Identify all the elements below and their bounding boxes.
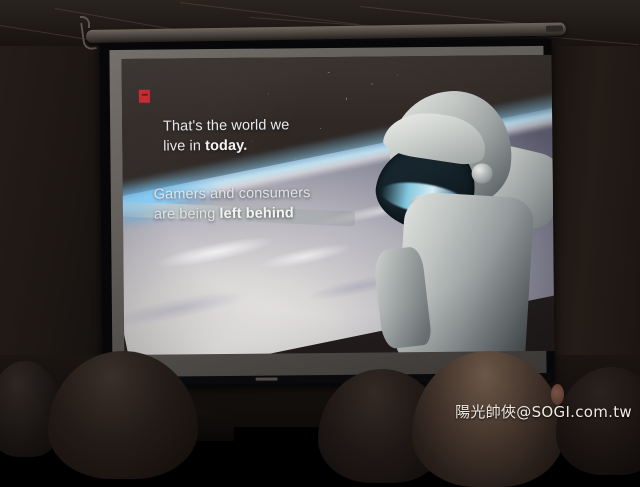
screen-fabric: That's the world we live in today. Gamer… bbox=[109, 46, 546, 380]
ceiling-tile-line bbox=[0, 25, 89, 40]
slide-headline-block-2: Gamers and consumers are being left behi… bbox=[154, 183, 311, 226]
headline-line-1: That's the world we bbox=[163, 115, 290, 137]
projection-screen[interactable]: That's the world we live in today. Gamer… bbox=[99, 39, 554, 387]
ceiling-tile-line bbox=[55, 8, 173, 30]
subhead-line-2-text: are being bbox=[154, 206, 220, 223]
subhead-emphasis-left-behind: left behind bbox=[219, 206, 294, 223]
headline-emphasis-today: today. bbox=[205, 138, 247, 154]
conference-room-scene: That's the world we live in today. Gamer… bbox=[0, 0, 640, 427]
suit-control-knob bbox=[471, 163, 492, 183]
roller-end-cap bbox=[546, 26, 563, 32]
headline-line-2-text: live in bbox=[163, 138, 205, 154]
photo-watermark: 陽光帥俠@SOGI.com.tw bbox=[455, 401, 632, 422]
red-logo-mark bbox=[139, 90, 150, 103]
projected-slide: That's the world we live in today. Gamer… bbox=[122, 55, 555, 355]
slide-headline-block-1: That's the world we live in today. bbox=[163, 115, 290, 157]
subhead-line-1: Gamers and consumers bbox=[154, 183, 311, 205]
headline-line-2: live in today. bbox=[163, 136, 290, 158]
subhead-line-2: are being left behind bbox=[154, 204, 311, 226]
ceiling-tile-line bbox=[180, 2, 359, 25]
astronaut-spacewalk bbox=[364, 67, 554, 355]
ceiling-tile-line bbox=[360, 6, 529, 25]
